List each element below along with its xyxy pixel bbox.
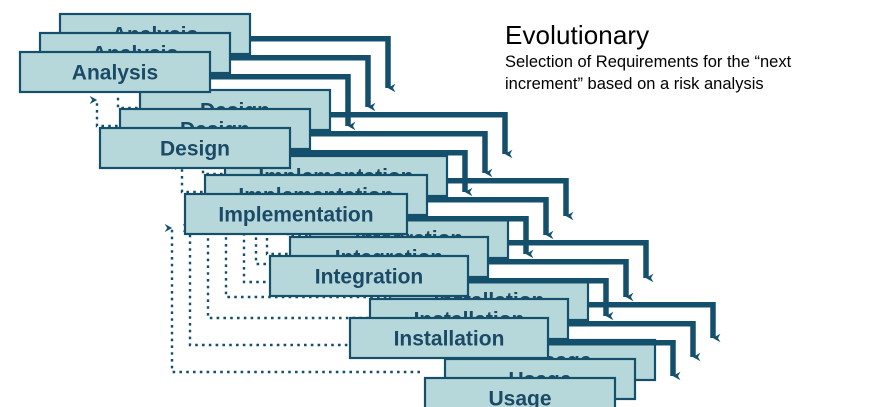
stage-label-design: Design <box>160 138 230 161</box>
stage-label-integration: Integration <box>315 266 424 289</box>
stage-label-implementation: Implementation <box>218 204 373 227</box>
stage-label-installation: Installation <box>394 328 505 351</box>
stage-box-design-copy2: Design <box>100 128 290 168</box>
legend-description: Selection of Requirements for the “next … <box>505 52 865 96</box>
stage-box-installation-copy2: Installation <box>350 318 548 358</box>
stage-label-analysis: Analysis <box>72 62 158 85</box>
stage-box-implementation-copy2: Implementation <box>185 194 407 234</box>
stage-box-analysis-copy2: Analysis <box>20 52 210 92</box>
stage-box-integration-copy2: Integration <box>270 256 468 296</box>
stage-box-usage-copy2: Usage <box>425 378 615 407</box>
legend-title: Evolutionary <box>505 22 865 49</box>
legend: Evolutionary Selection of Requirements f… <box>505 22 865 96</box>
diagram-canvas: AnalysisDesignImplementationIntegrationI… <box>0 0 881 407</box>
stage-label-usage: Usage <box>488 388 551 407</box>
